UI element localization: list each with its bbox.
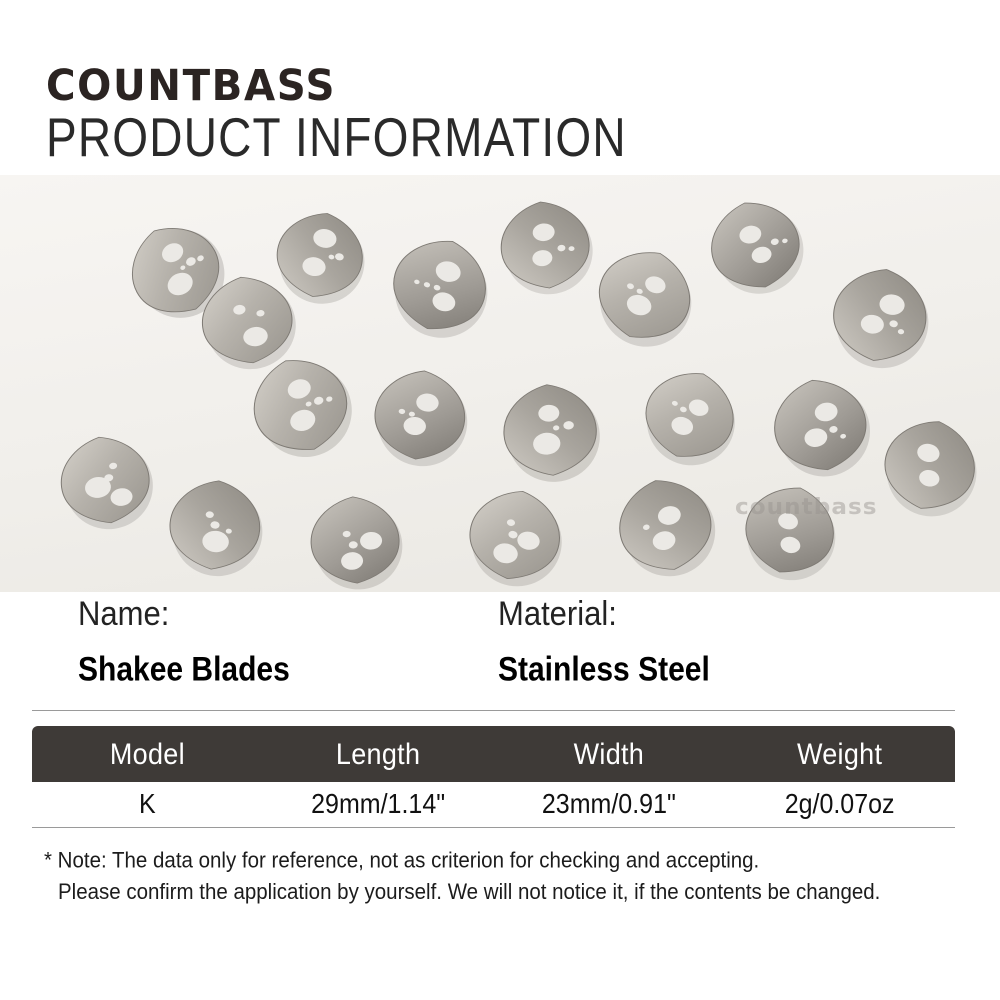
spec-summary: Name: Shakee Blades Material: Stainless … bbox=[0, 596, 1000, 706]
page-header: COUNTBASS PRODUCT INFORMATION bbox=[0, 0, 1000, 175]
section-divider bbox=[32, 710, 955, 711]
note-line-1: * Note: The data only for reference, not… bbox=[44, 845, 974, 877]
disclaimer-note: * Note: The data only for reference, not… bbox=[44, 845, 974, 909]
column-header-model: Model bbox=[32, 739, 263, 769]
table-row: K 29mm/1.14" 23mm/0.91" 2g/0.07oz bbox=[32, 782, 955, 828]
specification-table: Model Length Width Weight K 29mm/1.14" 2… bbox=[32, 726, 955, 828]
cell-length: 29mm/1.14" bbox=[263, 791, 494, 819]
product-photo-illustration bbox=[0, 175, 1000, 592]
cell-width: 23mm/0.91" bbox=[494, 791, 725, 819]
product-information-page: COUNTBASS PRODUCT INFORMATION bbox=[0, 0, 1000, 1000]
product-photo: countbass bbox=[0, 175, 1000, 592]
material-label: Material: bbox=[498, 596, 710, 631]
cell-model: K bbox=[32, 791, 263, 819]
spec-material-cell: Material: Stainless Steel bbox=[498, 596, 710, 683]
name-value: Shakee Blades bbox=[78, 653, 290, 687]
brand-logo: COUNTBASS bbox=[46, 64, 336, 107]
column-header-weight: Weight bbox=[724, 739, 955, 769]
name-label: Name: bbox=[78, 596, 290, 631]
spec-name-cell: Name: Shakee Blades bbox=[78, 596, 290, 683]
material-value: Stainless Steel bbox=[498, 653, 710, 687]
page-title: PRODUCT INFORMATION bbox=[46, 110, 627, 164]
column-header-length: Length bbox=[263, 739, 494, 769]
table-header-row: Model Length Width Weight bbox=[32, 726, 955, 782]
cell-weight: 2g/0.07oz bbox=[724, 791, 955, 819]
note-line-2: Please confirm the application by yourse… bbox=[44, 877, 974, 909]
column-header-width: Width bbox=[494, 739, 725, 769]
